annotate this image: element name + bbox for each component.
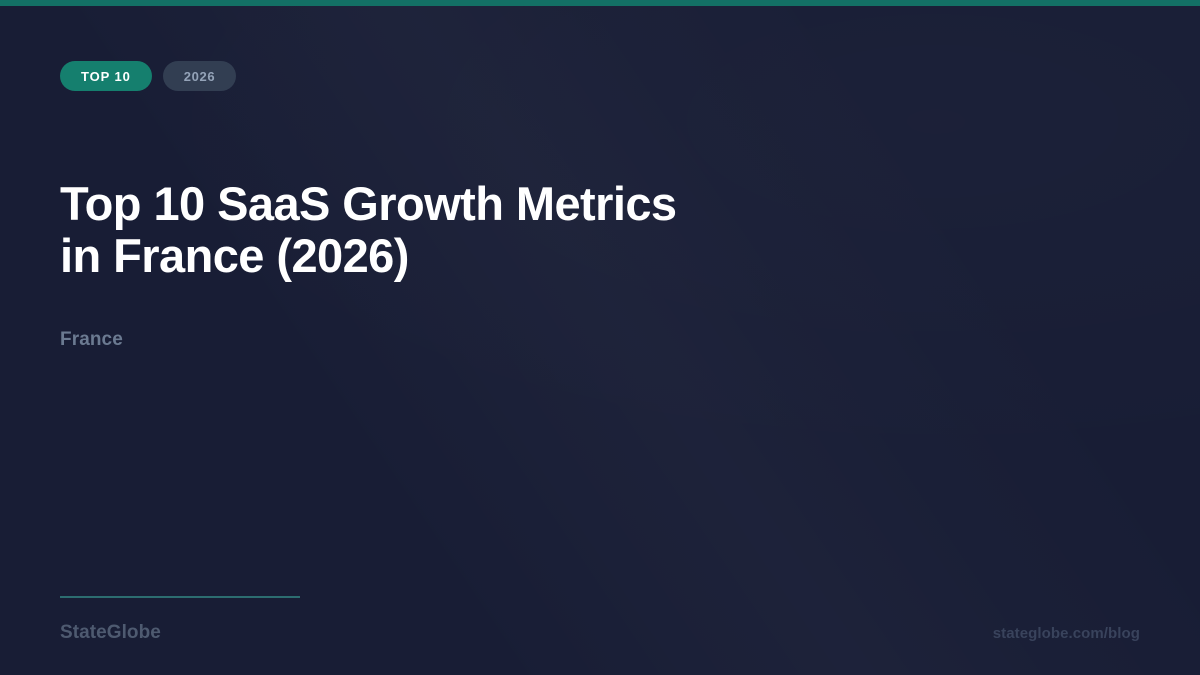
background-diagonal-sheen [0,0,1200,675]
badge-top-10[interactable]: TOP 10 [60,61,152,91]
background-vignette [0,0,1200,675]
top-accent-bar [0,0,1200,6]
page-title: Top 10 SaaS Growth Metrics in France (20… [60,178,820,282]
badge-year-2026[interactable]: 2026 [163,61,237,91]
page-title-line-1: Top 10 SaaS Growth Metrics [60,178,820,230]
page-title-line-2: in France (2026) [60,230,820,282]
headline-block: Top 10 SaaS Growth Metrics in France (20… [60,178,820,282]
brand-name: StateGlobe [60,622,161,644]
footer: StateGlobe stateglobe.com/blog [60,622,1140,644]
footer-divider [60,596,300,598]
site-url[interactable]: stateglobe.com/blog [993,625,1140,642]
page-subtitle-region: France [60,329,123,351]
social-card-slide: TOP 10 2026 Top 10 SaaS Growth Metrics i… [0,0,1200,675]
badge-row: TOP 10 2026 [60,61,236,91]
